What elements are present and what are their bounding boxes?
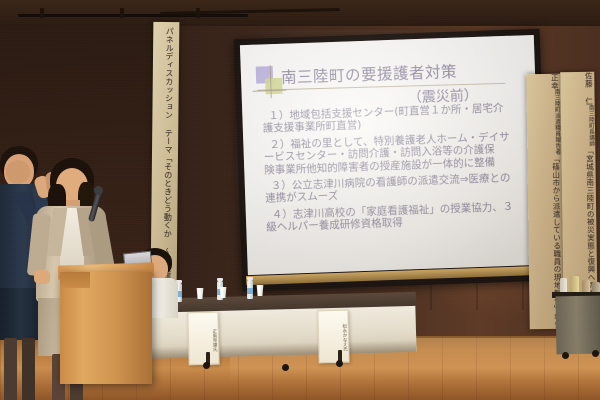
leg-left [4, 338, 17, 400]
bottle-cap [217, 278, 223, 281]
slide-bullet-item: １）地域包括支援センター(町直営１か所・居宅介 護支援事業所町直営) [268, 101, 521, 135]
lectern-notch [60, 272, 90, 288]
table-caster [282, 364, 289, 371]
banner-speaker-name: 酒井正幸 [549, 74, 560, 89]
name-placard: 正風見康氏 [187, 312, 219, 366]
placard-text: 正風見康氏 [189, 328, 218, 352]
photo-scene: 南三陸町の要援護者対策 （震災前） １）地域包括支援センター(町直営１か所・居宅… [0, 0, 600, 400]
table-caster [336, 360, 343, 367]
presentation-slide: 南三陸町の要援護者対策 （震災前） １）地域包括支援センター(町直営１か所・居宅… [240, 35, 542, 275]
banner-affiliation: 南三陸町長 [584, 105, 595, 135]
rail-hook-icon [40, 8, 44, 18]
banner-text: パネルディスカッション テーマ「そのときどう動くか 〜要援護者支援を考える〜」 [162, 27, 174, 285]
placard-text: 松永かなえ氏 [319, 324, 348, 352]
slide-bullet-list: １）地域包括支援センター(町直営１か所・居宅介 護支援事業所町直営) ２）福祉の… [268, 101, 524, 237]
banner-affiliation: 南三陸町派遣職員 [549, 89, 561, 137]
screen-surface: 南三陸町の要援護者対策 （震災前） １）地域包括支援センター(町直営１か所・居宅… [240, 35, 542, 275]
banner-role-label: 講師 [584, 135, 595, 147]
bottle-cap [247, 277, 253, 280]
ceiling-strip [0, 0, 600, 26]
slide-title: 南三陸町の要援護者対策 [281, 60, 458, 88]
lectern [60, 272, 152, 384]
table-caster [203, 362, 210, 369]
banner-role-label: 報告者 [550, 137, 561, 155]
slide-bullet-item: ２）福祉の里として、特別養護老人ホーム・デイサ ービスセンター・訪問介護・訪問入… [269, 130, 522, 176]
cart-caster [562, 352, 569, 359]
banner-speaker-name: 佐藤 仁 [583, 72, 594, 105]
microphone-head-icon [94, 186, 103, 195]
rail-hook-icon [196, 8, 200, 18]
slide-bullet-item: ４）志津川高校の「家庭看護福祉」の授業協力、３ 級ヘルパー養成研修資格取得 [272, 200, 525, 234]
service-cart [555, 296, 600, 355]
hand-left [34, 270, 50, 284]
water-bottle [247, 280, 253, 299]
banner-hanging-rail [18, 14, 248, 17]
banner-panel-discussion-theme: パネルディスカッション テーマ「そのときどう動くか 〜要援護者支援を考える〜」 [151, 22, 180, 285]
slide-bullet-item: ３）公立志津川病院の看護師の派遣交流⇒医療との 連携がスムーズ [271, 171, 524, 205]
name-placard: 松永かなえ氏 [317, 310, 349, 364]
rail-hook-icon [120, 8, 124, 18]
projection-screen: 南三陸町の要援護者対策 （震災前） １）地域包括支援センター(町直営１か所・居宅… [234, 29, 549, 292]
banner-report-session: 報告 「篠山市から派遣している職員の現地報告」 報告者 南三陸町派遣職員 酒井正… [526, 74, 564, 329]
cart-caster [592, 350, 599, 357]
